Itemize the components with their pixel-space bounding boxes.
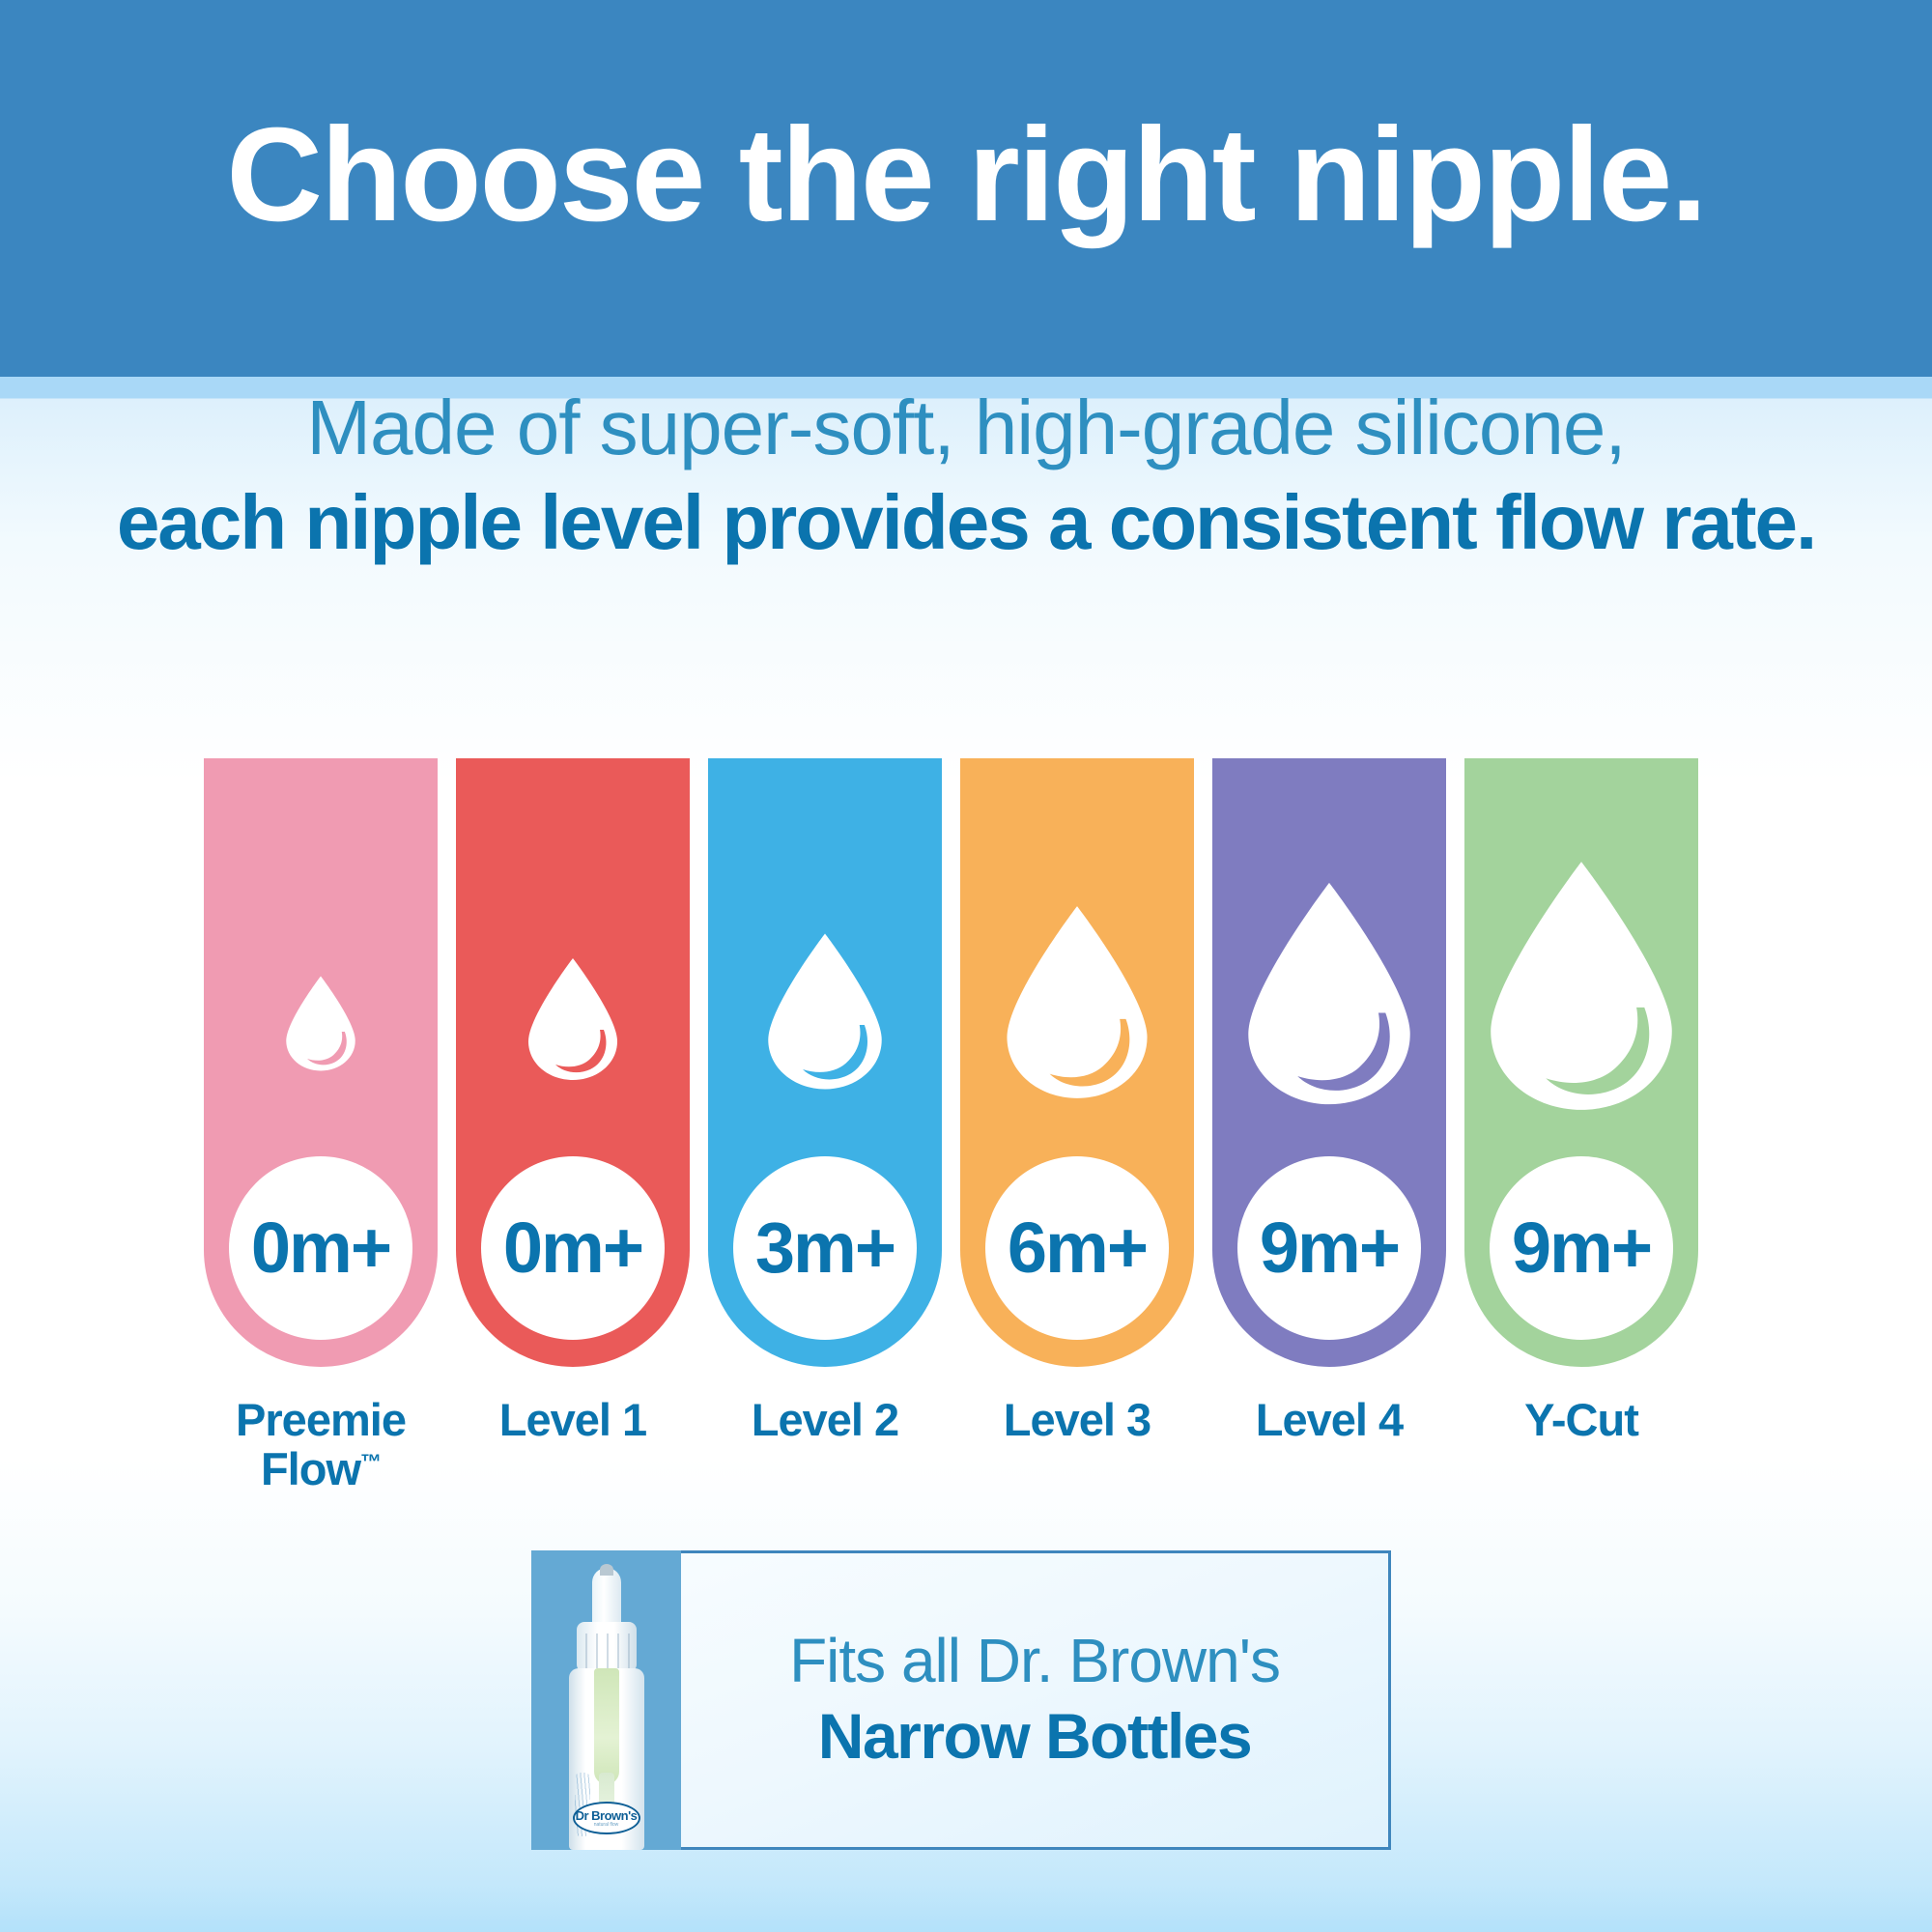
infographic-page: Choose the right nipple. Made of super-s… [0, 0, 1932, 1932]
level-label-2: Level 1 [456, 1396, 690, 1494]
level-label-line-2-text: Flow [261, 1443, 360, 1494]
subtitle-block: Made of super-soft, high-grade silicone,… [0, 386, 1932, 566]
water-drop-icon [283, 975, 358, 1072]
bottle-brand-logo: Dr Brown's natural flow [573, 1802, 640, 1834]
bottle-body-icon: Dr Brown's natural flow [569, 1668, 644, 1850]
water-drop-icon [525, 956, 621, 1082]
level-column-4[interactable]: 6m+ [960, 758, 1194, 1367]
level-label-5: Level 4 [1212, 1396, 1446, 1494]
level-column-2[interactable]: 0m+ [456, 758, 690, 1367]
age-label: 9m+ [1512, 1212, 1651, 1284]
level-label-line-1: Level 2 [708, 1396, 942, 1445]
age-label: 0m+ [251, 1212, 390, 1284]
bottle-nipple-icon [592, 1568, 621, 1628]
level-label-line-1: Level 3 [960, 1396, 1194, 1445]
age-badge: 0m+ [481, 1156, 665, 1340]
level-column-5[interactable]: 9m+ [1212, 758, 1446, 1367]
trademark-symbol: ™ [360, 1449, 381, 1473]
bottle-logo-sub-text: natural flow [594, 1823, 619, 1828]
nipple-level-labels: PreemieFlow™Level 1Level 2Level 3Level 4… [204, 1396, 1734, 1494]
age-badge: 3m+ [733, 1156, 917, 1340]
bottle-nipple-tip-icon [600, 1564, 613, 1576]
page-title: Choose the right nipple. [0, 108, 1932, 241]
level-label-1: PreemieFlow™ [204, 1396, 438, 1494]
fits-bottles-panel: Dr Brown's natural flow Fits all Dr. Bro… [531, 1550, 1391, 1850]
nipple-level-chart: 0m+0m+3m+6m+9m+9m+ [204, 758, 1734, 1367]
level-label-line-1: Level 1 [456, 1396, 690, 1445]
age-label: 9m+ [1260, 1212, 1399, 1284]
bottle-photo: Dr Brown's natural flow [531, 1550, 681, 1850]
bottle-logo-main-text: Dr Brown's [576, 1809, 638, 1822]
subtitle-line-1: Made of super-soft, high-grade silicone, [0, 386, 1932, 469]
fits-text-box: Fits all Dr. Brown's Narrow Bottles [681, 1550, 1391, 1850]
fits-line-1: Fits all Dr. Brown's [789, 1627, 1280, 1694]
water-drop-icon [763, 931, 887, 1092]
water-drop-icon [1241, 879, 1417, 1108]
age-label: 3m+ [755, 1212, 895, 1284]
age-badge: 0m+ [229, 1156, 412, 1340]
baby-bottle-illustration: Dr Brown's natural flow [560, 1568, 653, 1850]
fits-line-2: Narrow Bottles [818, 1700, 1251, 1774]
age-badge: 9m+ [1237, 1156, 1421, 1340]
level-label-line-2: Flow™ [204, 1445, 438, 1494]
level-column-3[interactable]: 3m+ [708, 758, 942, 1367]
age-label: 6m+ [1008, 1212, 1147, 1284]
level-label-3: Level 2 [708, 1396, 942, 1494]
level-label-line-1: Y-Cut [1464, 1396, 1698, 1445]
level-column-1[interactable]: 0m+ [204, 758, 438, 1367]
level-label-6: Y-Cut [1464, 1396, 1698, 1494]
bottle-vent-insert-icon [594, 1668, 619, 1784]
level-label-line-1: Level 4 [1212, 1396, 1446, 1445]
header-band: Choose the right nipple. [0, 0, 1932, 377]
bottle-collar-ridges-icon [577, 1634, 637, 1668]
water-drop-icon [1001, 903, 1153, 1101]
bottle-collar-icon [577, 1622, 637, 1672]
water-drop-icon [1483, 858, 1680, 1114]
level-column-6[interactable]: 9m+ [1464, 758, 1698, 1367]
level-label-line-1: Preemie [204, 1396, 438, 1445]
subtitle-line-2: each nipple level provides a consistent … [0, 479, 1932, 566]
level-label-4: Level 3 [960, 1396, 1194, 1494]
age-badge: 9m+ [1490, 1156, 1673, 1340]
age-label: 0m+ [503, 1212, 642, 1284]
age-badge: 6m+ [985, 1156, 1169, 1340]
